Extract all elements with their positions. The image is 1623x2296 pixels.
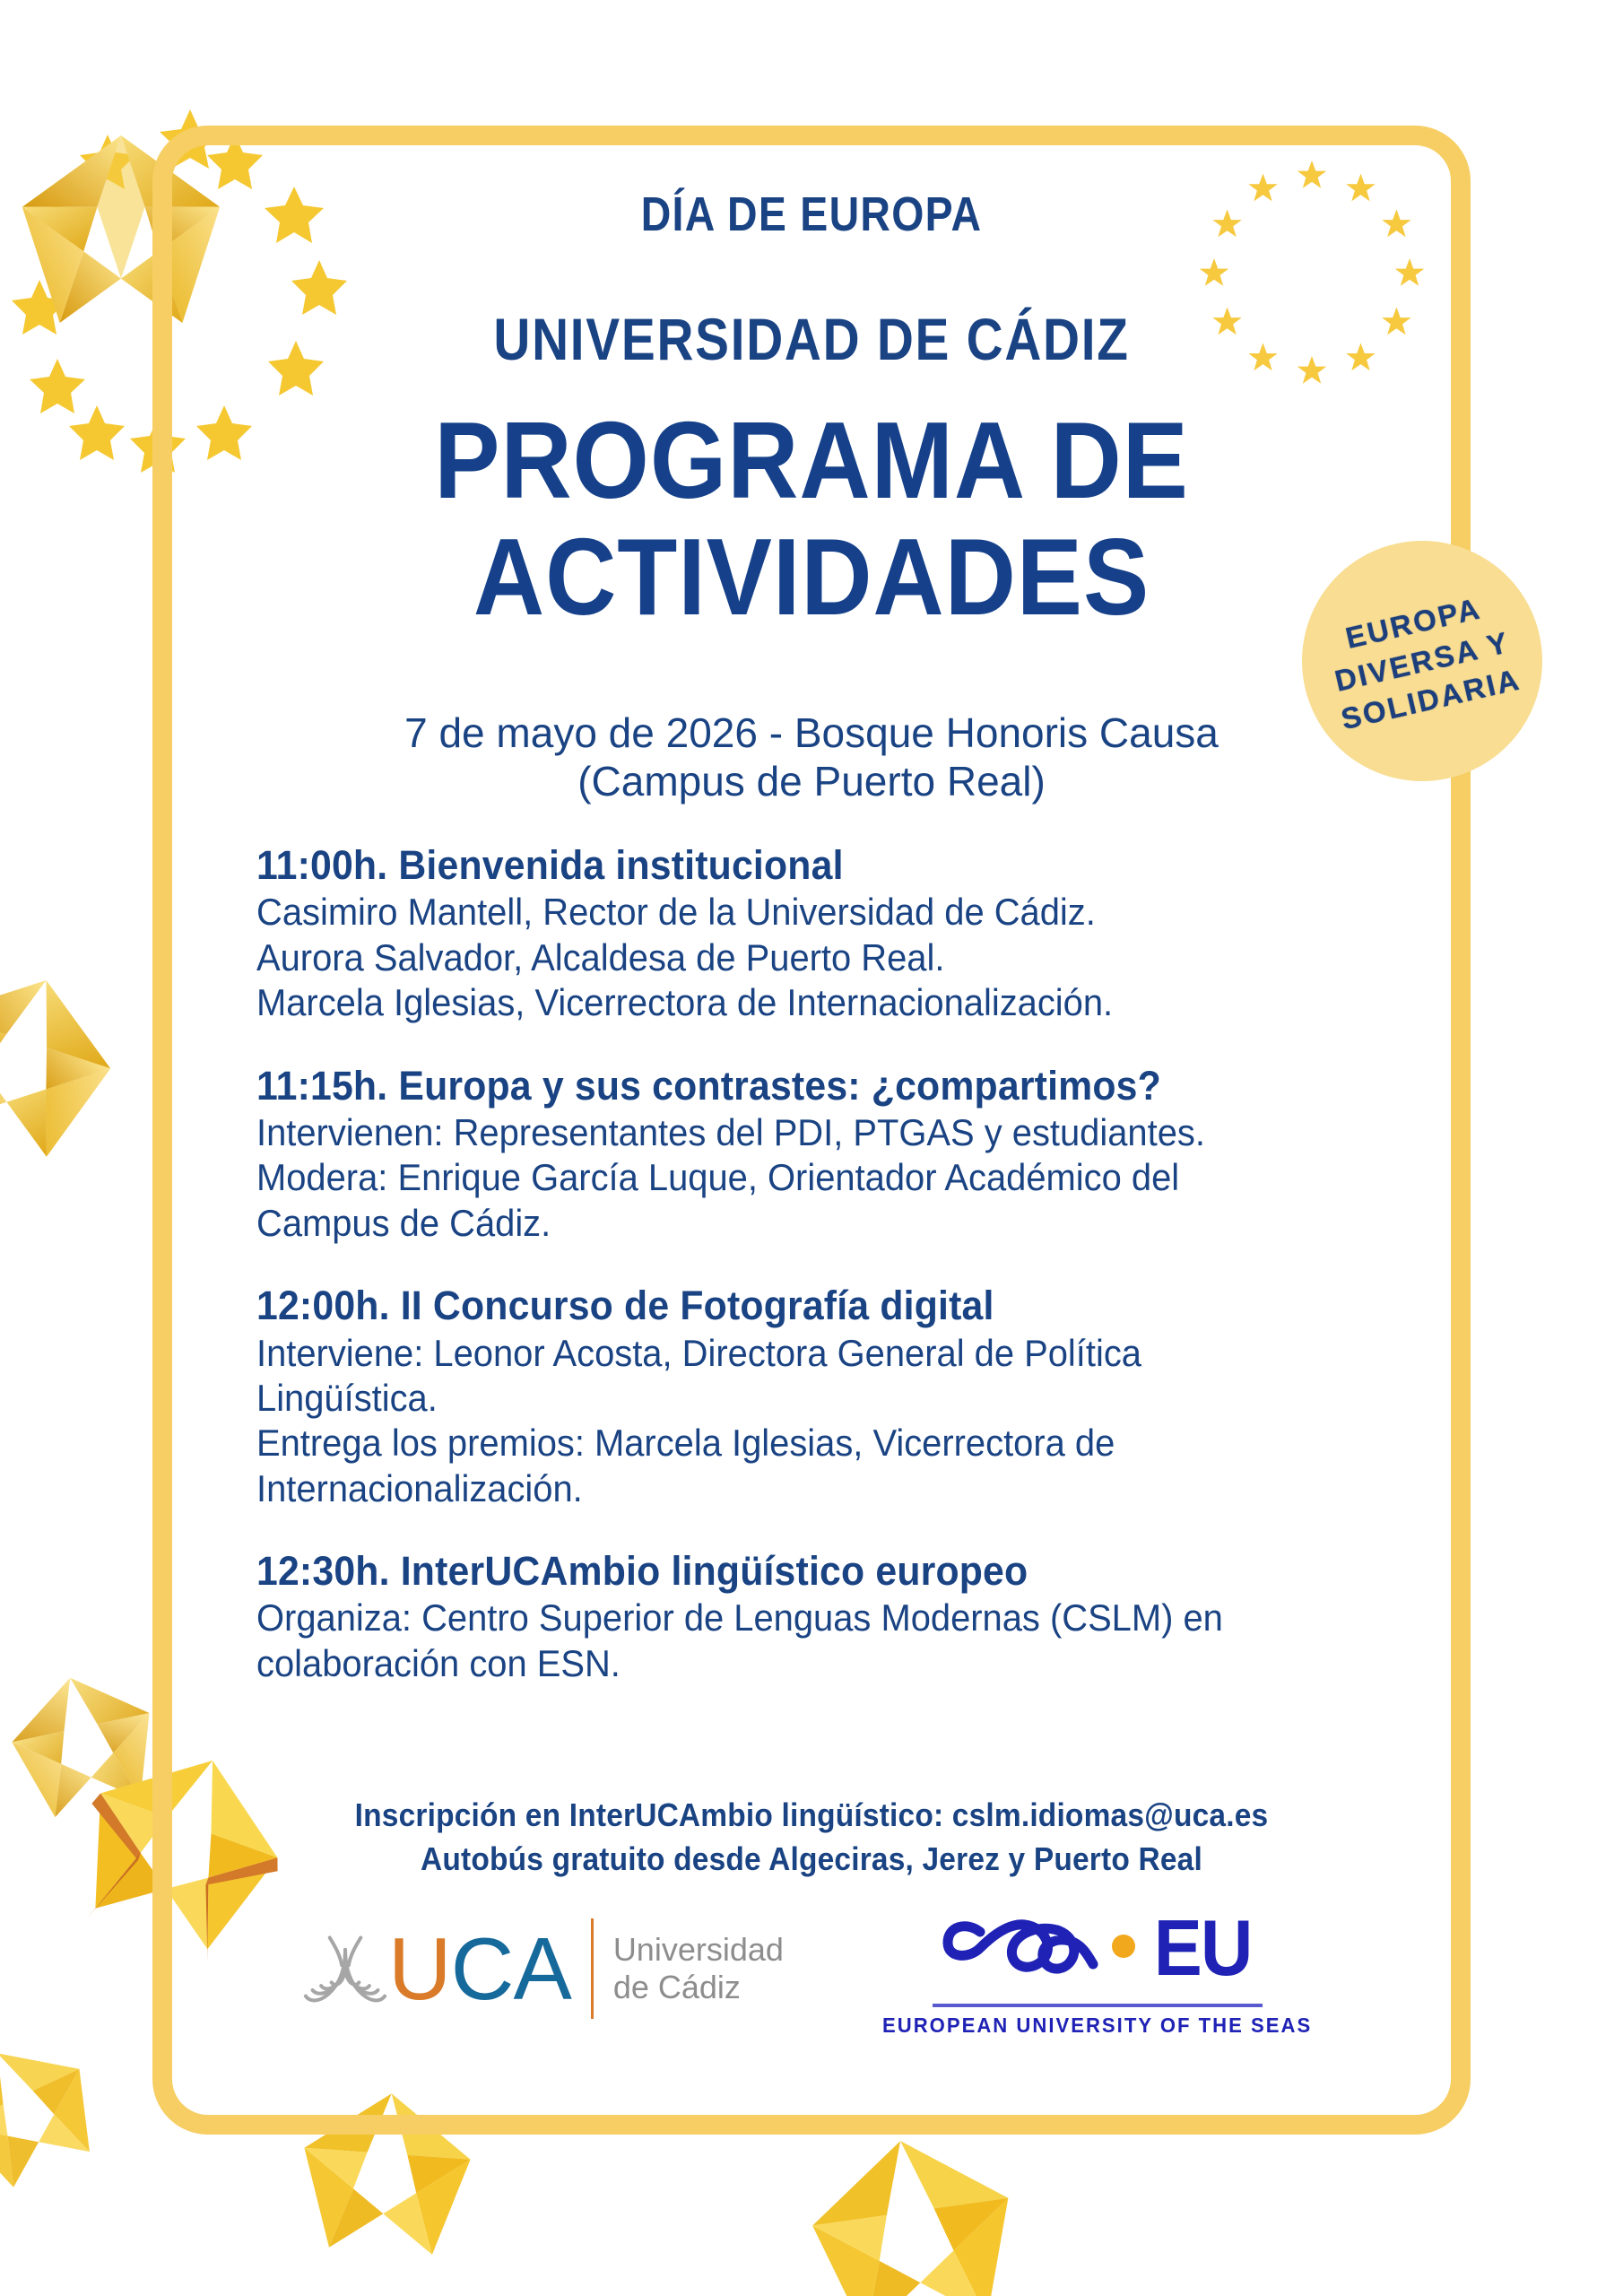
program-list: 11:00h. Bienvenida institucional Casimir…	[256, 843, 1413, 1686]
program-detail-line: Marcela Iglesias, Vicerrectora de Intern…	[256, 980, 1356, 1025]
program-heading: 12:00h. II Concurso de Fotografía digita…	[256, 1283, 1356, 1328]
program-heading: 11:15h. Europa y sus contrastes: ¿compar…	[256, 1064, 1356, 1109]
program-detail-line: Casimiro Mantell, Rector de la Universid…	[256, 890, 1356, 935]
program-heading: 11:00h. Bienvenida institucional	[256, 843, 1356, 888]
program-detail-line: Interviene: Leonor Acosta, Directora Gen…	[256, 1331, 1356, 1376]
sea-script-icon	[939, 1900, 1150, 1996]
page-title-line-1: PROGRAMA DE	[82, 408, 1542, 513]
uca-letters-ca: CA	[451, 1919, 571, 2018]
program-block: 11:15h. Europa y sus contrastes: ¿compar…	[256, 1064, 1413, 1247]
program-detail-line: Campus de Cádiz.	[256, 1201, 1356, 1246]
uca-letter-u: U	[388, 1919, 451, 2018]
program-detail-line: colaboración con ESN.	[256, 1641, 1356, 1686]
program-block: 11:00h. Bienvenida institucional Casimir…	[256, 843, 1413, 1026]
sea-eu-wordmark-row: EU	[939, 1900, 1255, 1996]
kicker-dia-de-europa: DÍA DE EUROPA	[114, 187, 1510, 242]
registration-notes: Inscripción en InterUCAmbio lingüístico:…	[0, 1794, 1623, 1881]
program-block: 12:00h. II Concurso de Fotografía digita…	[256, 1283, 1413, 1511]
program-detail-line: Organiza: Centro Superior de Lenguas Mod…	[256, 1596, 1356, 1640]
logo-row: UCA Universidad de Cádiz EU EUROPEAN UNI…	[0, 1870, 1623, 2067]
sea-eu-tagline: EUROPEAN UNIVERSITY OF THE SEAS	[882, 2013, 1312, 2038]
sea-eu-logo: EU EUROPEAN UNIVERSITY OF THE SEAS	[873, 1900, 1321, 2038]
program-block: 12:30h. InterUCAmbio lingüístico europeo…	[256, 1549, 1413, 1686]
program-detail-line: Intervienen: Representantes del PDI, PTG…	[256, 1110, 1356, 1155]
uca-wings-icon	[302, 1927, 388, 2010]
program-detail-line: Aurora Salvador, Alcaldesa de Puerto Rea…	[256, 935, 1356, 980]
uca-acronym: UCA	[388, 1925, 571, 2013]
program-detail-line: Entrega los premios: Marcela Iglesias, V…	[256, 1421, 1356, 1465]
status-badge: EUROPA DIVERSA Y SOLIDARIA	[1302, 541, 1542, 781]
sea-eu-eu-text: EU	[1154, 1909, 1252, 1987]
uca-subtitle: Universidad de Cádiz	[613, 1931, 784, 2007]
program-detail-line: Lingüística.	[256, 1376, 1356, 1421]
registration-email-line: Inscripción en InterUCAmbio lingüístico:…	[56, 1794, 1566, 1838]
program-detail-line: Modera: Enrique García Luque, Orientador…	[256, 1155, 1356, 1200]
badge-text: EUROPA DIVERSA Y SOLIDARIA	[1320, 583, 1524, 738]
kicker-universidad-de-cadiz: UNIVERSIDAD DE CÁDIZ	[114, 305, 1510, 373]
program-heading: 12:30h. InterUCAmbio lingüístico europeo	[256, 1549, 1356, 1594]
sea-eu-rule	[933, 2004, 1263, 2007]
uca-divider	[591, 1918, 594, 2019]
sea-eu-dot-icon	[1112, 1935, 1135, 1958]
uca-logo: UCA Universidad de Cádiz	[302, 1918, 784, 2019]
program-detail-line: Internacionalización.	[256, 1466, 1356, 1511]
